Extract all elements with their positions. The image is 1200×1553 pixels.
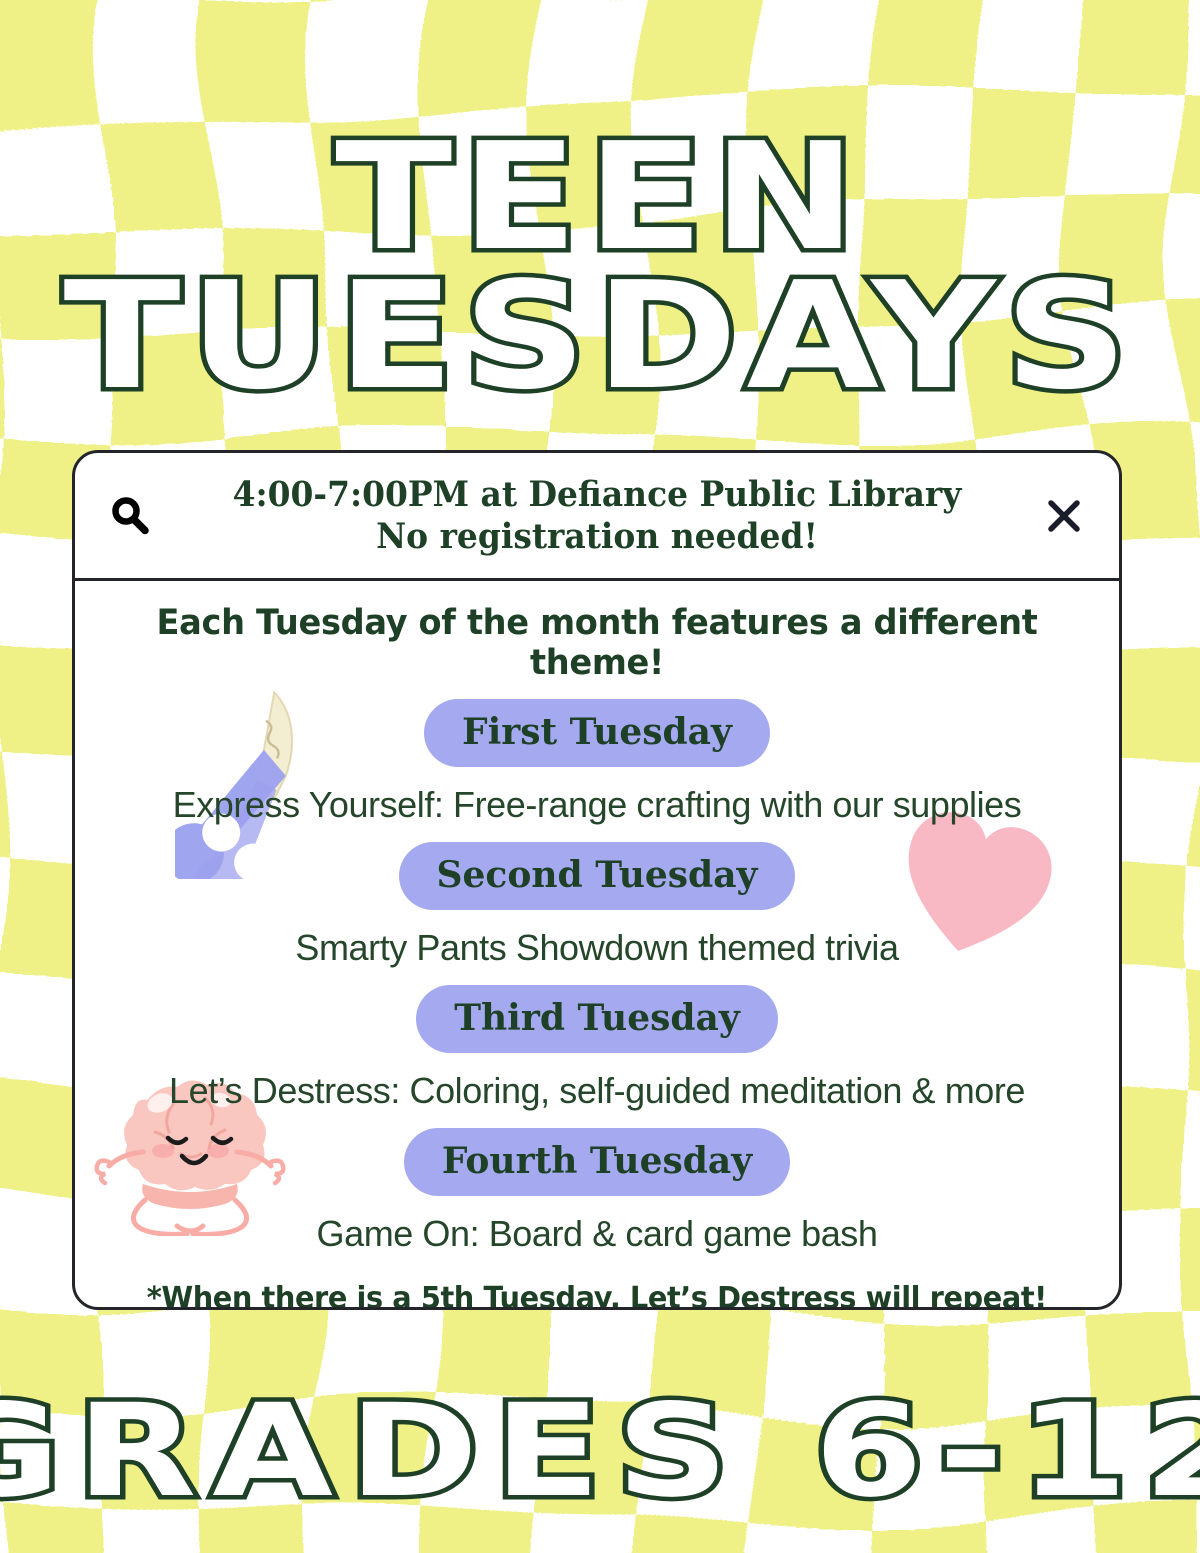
section-heading: Each Tuesday of the month features a dif… — [119, 603, 1075, 683]
footnote: *When there is a 5th Tuesday, Let’s Dest… — [147, 1281, 1047, 1310]
card-header-title: 4:00-7:00PM at Defiance Public Library N… — [185, 474, 1008, 558]
day-pill-second[interactable]: Second Tuesday — [399, 842, 796, 910]
grades-banner: GRADES 6-12 — [0, 1392, 1200, 1512]
card-header-bar: 4:00-7:00PM at Defiance Public Library N… — [75, 453, 1119, 581]
schedule-entry: Third Tuesday Let’s Destress: Coloring, … — [99, 969, 1095, 1112]
day-pill-first[interactable]: First Tuesday — [424, 699, 770, 767]
theme-description-first: Express Yourself: Free-range crafting wi… — [173, 784, 1022, 826]
schedule-entry: Fourth Tuesday Game On: Board & card gam… — [99, 1112, 1095, 1255]
close-icon[interactable] — [1035, 495, 1093, 537]
day-pill-fourth[interactable]: Fourth Tuesday — [404, 1128, 790, 1196]
day-pill-third[interactable]: Third Tuesday — [416, 985, 778, 1053]
info-card: 4:00-7:00PM at Defiance Public Library N… — [72, 450, 1122, 1310]
page-title: TEEN TUESDAYS — [0, 128, 1200, 406]
schedule-list: First Tuesday Express Yourself: Free-ran… — [99, 683, 1095, 1255]
schedule-entry: Second Tuesday Smarty Pants Showdown the… — [99, 826, 1095, 969]
theme-description-fourth: Game On: Board & card game bash — [317, 1213, 878, 1255]
card-body: Each Tuesday of the month features a dif… — [75, 581, 1119, 1310]
theme-description-third: Let’s Destress: Coloring, self-guided me… — [169, 1070, 1025, 1112]
search-icon[interactable] — [101, 493, 159, 539]
schedule-entry: First Tuesday Express Yourself: Free-ran… — [99, 683, 1095, 826]
theme-description-second: Smarty Pants Showdown themed trivia — [295, 927, 898, 969]
